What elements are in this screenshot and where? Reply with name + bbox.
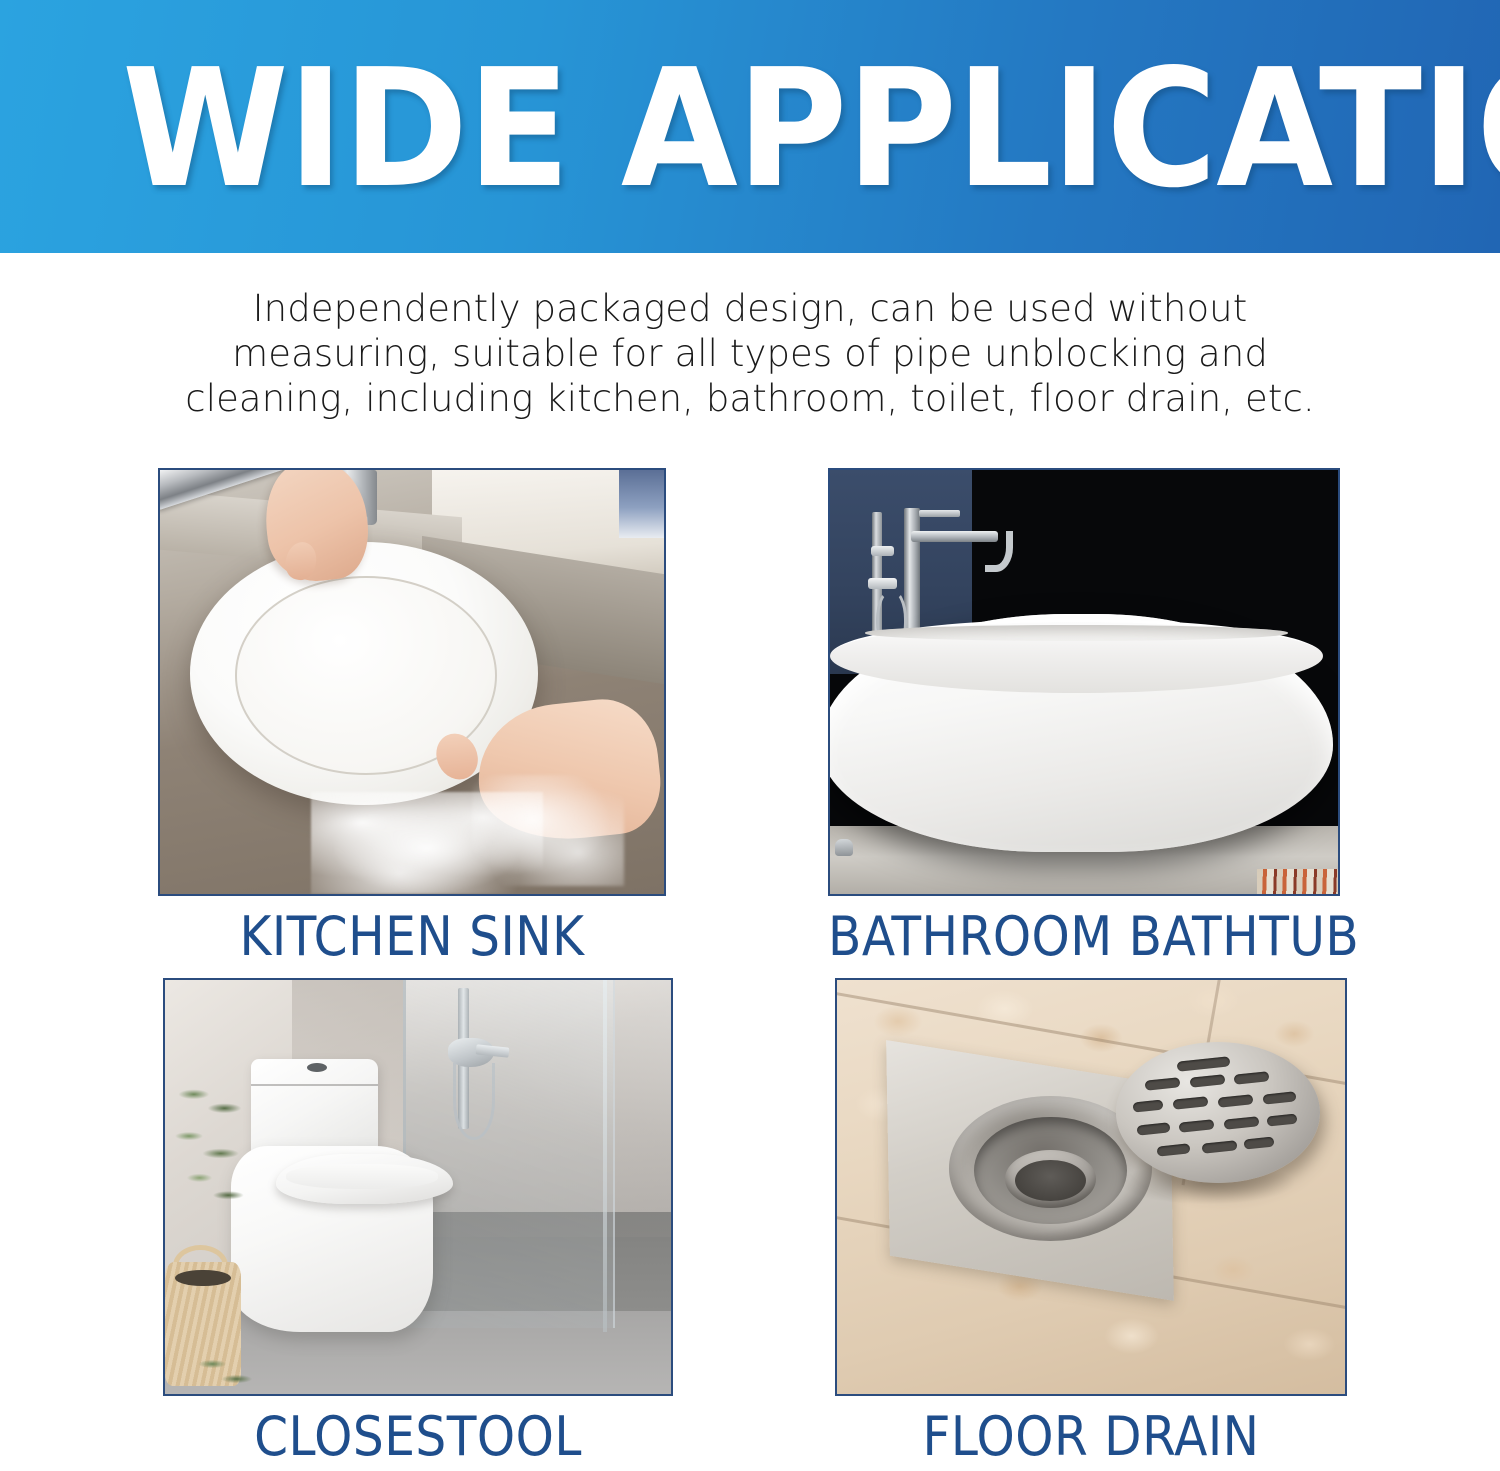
- caption-floor-drain: FLOOR DRAIN: [835, 1408, 1347, 1466]
- page-title: WIDE APPLICATION: [122, 48, 1451, 211]
- application-tile-bathroom-bathtub: BATHROOM BATHTUB: [828, 468, 1340, 960]
- toilet-tank-seam: [251, 1084, 378, 1086]
- caption-kitchen-sink: KITCHEN SINK: [158, 908, 666, 966]
- grate-slot: [1173, 1097, 1208, 1110]
- bathtub-interior: [865, 625, 1289, 641]
- planter-soil: [175, 1270, 231, 1287]
- caption-bathroom-bathtub: BATHROOM BATHTUB: [828, 908, 1340, 966]
- floor-drain-photo-frame: [835, 978, 1347, 1396]
- description-text: Independently packaged design, can be us…: [150, 286, 1350, 421]
- faucet-lower-knob: [868, 578, 896, 589]
- white-bathtub: [830, 614, 1333, 851]
- application-tile-floor-drain: FLOOR DRAIN: [835, 978, 1347, 1471]
- grate-slot: [1132, 1100, 1163, 1113]
- drain-cover-grate: [1116, 1042, 1319, 1183]
- fallen-leaves: [180, 1344, 261, 1394]
- bathtub-photo: [830, 470, 1338, 894]
- grate-slot: [1189, 1074, 1224, 1087]
- olive-branch-leaves: [165, 1063, 261, 1237]
- kitchen-sink-photo: [160, 470, 664, 894]
- header-banner: WIDE APPLICATION: [0, 0, 1500, 253]
- soap-suds-secondary: [472, 775, 623, 885]
- grate-slot: [1266, 1114, 1297, 1127]
- grate-slot: [1201, 1140, 1236, 1153]
- grate-slot: [1144, 1077, 1179, 1090]
- grate-slot: [1224, 1116, 1259, 1129]
- application-tile-kitchen-sink: KITCHEN SINK: [158, 468, 666, 960]
- faucet-upper-knob: [871, 546, 894, 555]
- closestool-photo: [165, 980, 671, 1394]
- bathtub-rim: [830, 619, 1323, 693]
- grate-slot: [1218, 1094, 1253, 1107]
- drain-pipe-opening: [1015, 1160, 1086, 1201]
- grate-slot: [1179, 1119, 1214, 1132]
- striped-rug: [1257, 869, 1338, 894]
- grate-slot: [1136, 1122, 1169, 1135]
- grate-slot: [1234, 1071, 1269, 1084]
- grate-slot: [1262, 1091, 1295, 1104]
- toilet-lid: [286, 1164, 438, 1189]
- glass-screen-edge: [603, 980, 608, 1332]
- grate-slot: [1177, 1056, 1231, 1071]
- closestool-photo-frame: [163, 978, 673, 1396]
- kitchen-sink-photo-frame: [158, 468, 666, 896]
- floor-drain-photo: [837, 980, 1345, 1394]
- bathtub-photo-frame: [828, 468, 1340, 896]
- towel: [619, 470, 664, 538]
- application-tile-closestool: CLOSESTOOL: [163, 978, 673, 1471]
- caption-closestool: CLOSESTOOL: [163, 1408, 673, 1466]
- glass-shower-screen: [403, 980, 615, 1328]
- grate-slot: [1244, 1136, 1275, 1149]
- grate-slot: [1157, 1143, 1190, 1156]
- flush-button: [307, 1063, 327, 1072]
- faucet-handle: [919, 510, 960, 517]
- tub-foot: [835, 839, 853, 856]
